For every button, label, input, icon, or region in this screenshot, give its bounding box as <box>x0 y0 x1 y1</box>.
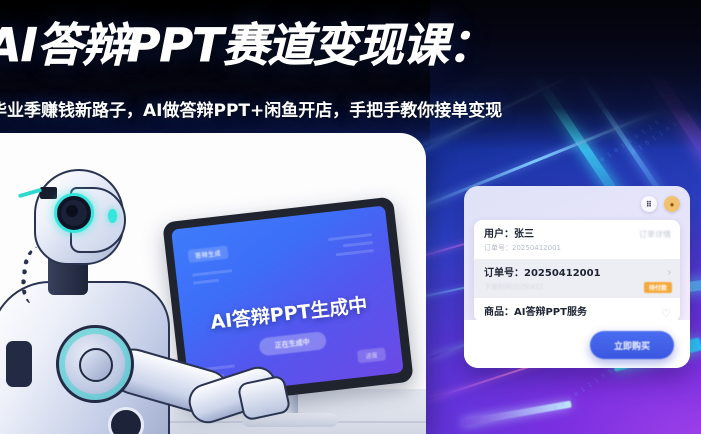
order-card-toolbar: ⠿ ● <box>641 196 680 212</box>
robot-illustration <box>0 163 212 434</box>
order-card: ⠿ ● 用户：张三 订单号：20250412001 订单详情 订单号：20250… <box>464 186 690 368</box>
poster-title: AI答辩PPT赛道变现课： <box>0 22 701 68</box>
heart-icon[interactable]: ♡ <box>661 307 671 320</box>
coin-icon[interactable]: ● <box>664 196 680 212</box>
illustration-panel: 答辩生成 AI答辩PPT生成中 正在生成中 进度 <box>0 133 426 434</box>
poster-subtitle: 毕业季赚钱新路子，AI做答辩PPT+闲鱼开店，手把手教你接单变现 <box>0 96 701 121</box>
order-number-ghost-text: 下单时间20250412 <box>484 282 670 292</box>
order-product-label: 商品：AI答辩PPT服务 <box>484 306 670 319</box>
order-detail-sheet: 用户：张三 订单号：20250412001 订单详情 订单号：202504120… <box>474 220 680 322</box>
grid-icon[interactable]: ⠿ <box>641 196 657 212</box>
screen-status-pill: 正在生成中 <box>258 331 327 356</box>
purchase-button[interactable]: 立即购买 <box>590 331 674 359</box>
order-number-label: 订单号：20250412001 <box>484 267 670 280</box>
promotional-poster: 1 0 1 1 0 1 0 0 1 1 0 1 1 0 1 1 1 0 0 1 … <box>0 0 701 434</box>
robot-eye-icon <box>54 193 94 233</box>
robot-cheek-light <box>108 209 117 223</box>
chevron-right-icon[interactable]: › <box>668 267 671 278</box>
robot-head-slot <box>40 187 57 199</box>
order-user-note: 订单详情 <box>639 229 671 240</box>
screen-title: AI答辩PPT生成中 <box>180 287 397 338</box>
order-card-footer: 立即购买 <box>464 320 690 368</box>
order-row-user[interactable]: 用户：张三 订单号：20250412001 订单详情 <box>474 220 680 259</box>
screen-progress-chip: 进度 <box>357 347 386 363</box>
order-row-number[interactable]: 订单号：20250412001 下单时间20250412 › 待付款 <box>474 259 680 298</box>
headline-block: AI答辩PPT赛道变现课： 毕业季赚钱新路子，AI做答辩PPT+闲鱼开店，手把手… <box>0 22 701 68</box>
order-row-product[interactable]: 商品：AI答辩PPT服务 查看详情 ♡ <box>474 298 680 322</box>
status-badge: 待付款 <box>644 282 672 293</box>
robot-body-panel <box>6 341 32 387</box>
order-user-subtext: 订单号：20250412001 <box>484 243 670 253</box>
robot-shoulder-joint <box>56 325 134 403</box>
